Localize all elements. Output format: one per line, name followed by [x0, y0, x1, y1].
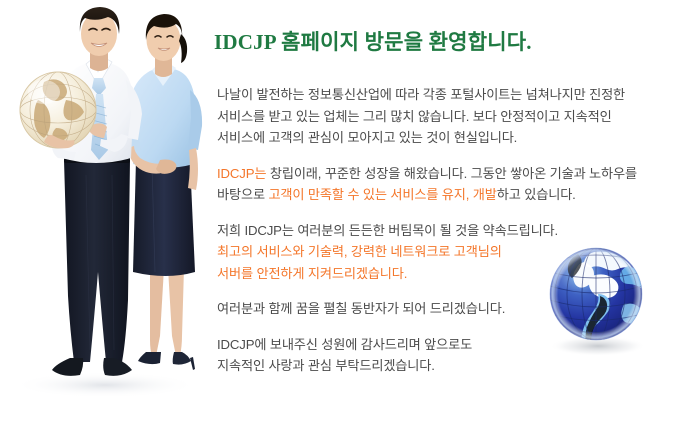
text-line: 나날이 발전하는 정보통신산업에 따라 각종 포털사이트는 넘쳐나지만 진정한 [217, 87, 625, 102]
womans-skirt [133, 160, 195, 276]
text-run: 저희 IDCJP는 여러분의 든든한 버팀목이 될 것을 약속드립니다. [217, 223, 558, 238]
text-run: 지속적인 사랑과 관심 부탁드리겠습니다. [217, 358, 435, 373]
text-line: IDCJP에 보내주신 성원에 감사드리며 앞으로도 [217, 337, 472, 352]
text-run: 서비스를 받고 있는 업체는 그리 많치 않습니다. 보다 안정적이고 지속적인 [217, 109, 612, 124]
text-run: 나날이 발전하는 정보통신산업에 따라 각종 포털사이트는 넘쳐나지만 진정한 [217, 87, 625, 102]
text-line: 여러분과 함께 꿈을 펼칠 동반자가 되어 드리겠습니다. [217, 301, 505, 316]
text-run: IDCJP에 보내주신 성원에 감사드리며 앞으로도 [217, 337, 472, 352]
paragraph-p1: 나날이 발전하는 정보통신산업에 따라 각종 포털사이트는 넘쳐나지만 진정한서… [217, 84, 669, 149]
text-line: 서버를 안전하게 지켜드리겠습니다. [217, 266, 407, 281]
text-line: 저희 IDCJP는 여러분의 든든한 버팀목이 될 것을 약속드립니다. [217, 223, 558, 238]
text-line: 서비스를 받고 있는 업체는 그리 많치 않습니다. 보다 안정적이고 지속적인 [217, 109, 612, 124]
text-run: 여러분과 함께 꿈을 펼칠 동반자가 되어 드리겠습니다. [217, 301, 505, 316]
two-business-people-photo [0, 0, 215, 431]
page-title: IDCJP 홈페이지 방문을 환영합니다. [214, 26, 532, 56]
highlighted-text-run: 고객이 만족할 수 있는 서비스를 유지, 개발 [268, 187, 496, 202]
text-line: 서비스에 고객의 관심이 모아지고 있는 것이 현실입니다. [217, 130, 517, 145]
text-run: 서비스에 고객의 관심이 모아지고 있는 것이 현실입니다. [217, 130, 517, 145]
text-run: 창립이래, 꾸준한 성장을 해왔습니다. 그동안 쌓아온 기술과 노하우를 [266, 166, 637, 181]
text-line: 지속적인 사랑과 관심 부탁드리겠습니다. [217, 358, 435, 373]
text-line: IDCJP는 창립이래, 꾸준한 성장을 해왔습니다. 그동안 쌓아온 기술과 … [217, 166, 637, 181]
highlighted-text-run: 서버를 안전하게 지켜드리겠습니다. [217, 266, 407, 281]
highlighted-text-run: IDCJP는 [217, 166, 266, 181]
antique-globe-held [20, 72, 96, 148]
text-line: 최고의 서비스와 기술력, 강력한 네트워크로 고객님의 [217, 244, 502, 259]
text-run: 하고 있습니다. [497, 187, 576, 202]
highlighted-text-run: 최고의 서비스와 기술력, 강력한 네트워크로 고객님의 [217, 244, 502, 259]
text-run: 바탕으로 [217, 187, 268, 202]
photo-floor-shadow [13, 372, 197, 398]
blue-globe-graphic [540, 242, 660, 362]
paragraph-p2: IDCJP는 창립이래, 꾸준한 성장을 해왔습니다. 그동안 쌓아온 기술과 … [217, 163, 669, 206]
text-line: 바탕으로 고객이 만족할 수 있는 서비스를 유지, 개발하고 있습니다. [217, 187, 576, 202]
welcome-page: IDCJP 홈페이지 방문을 환영합니다. 나날이 발전하는 정보통신산업에 따… [0, 0, 680, 431]
